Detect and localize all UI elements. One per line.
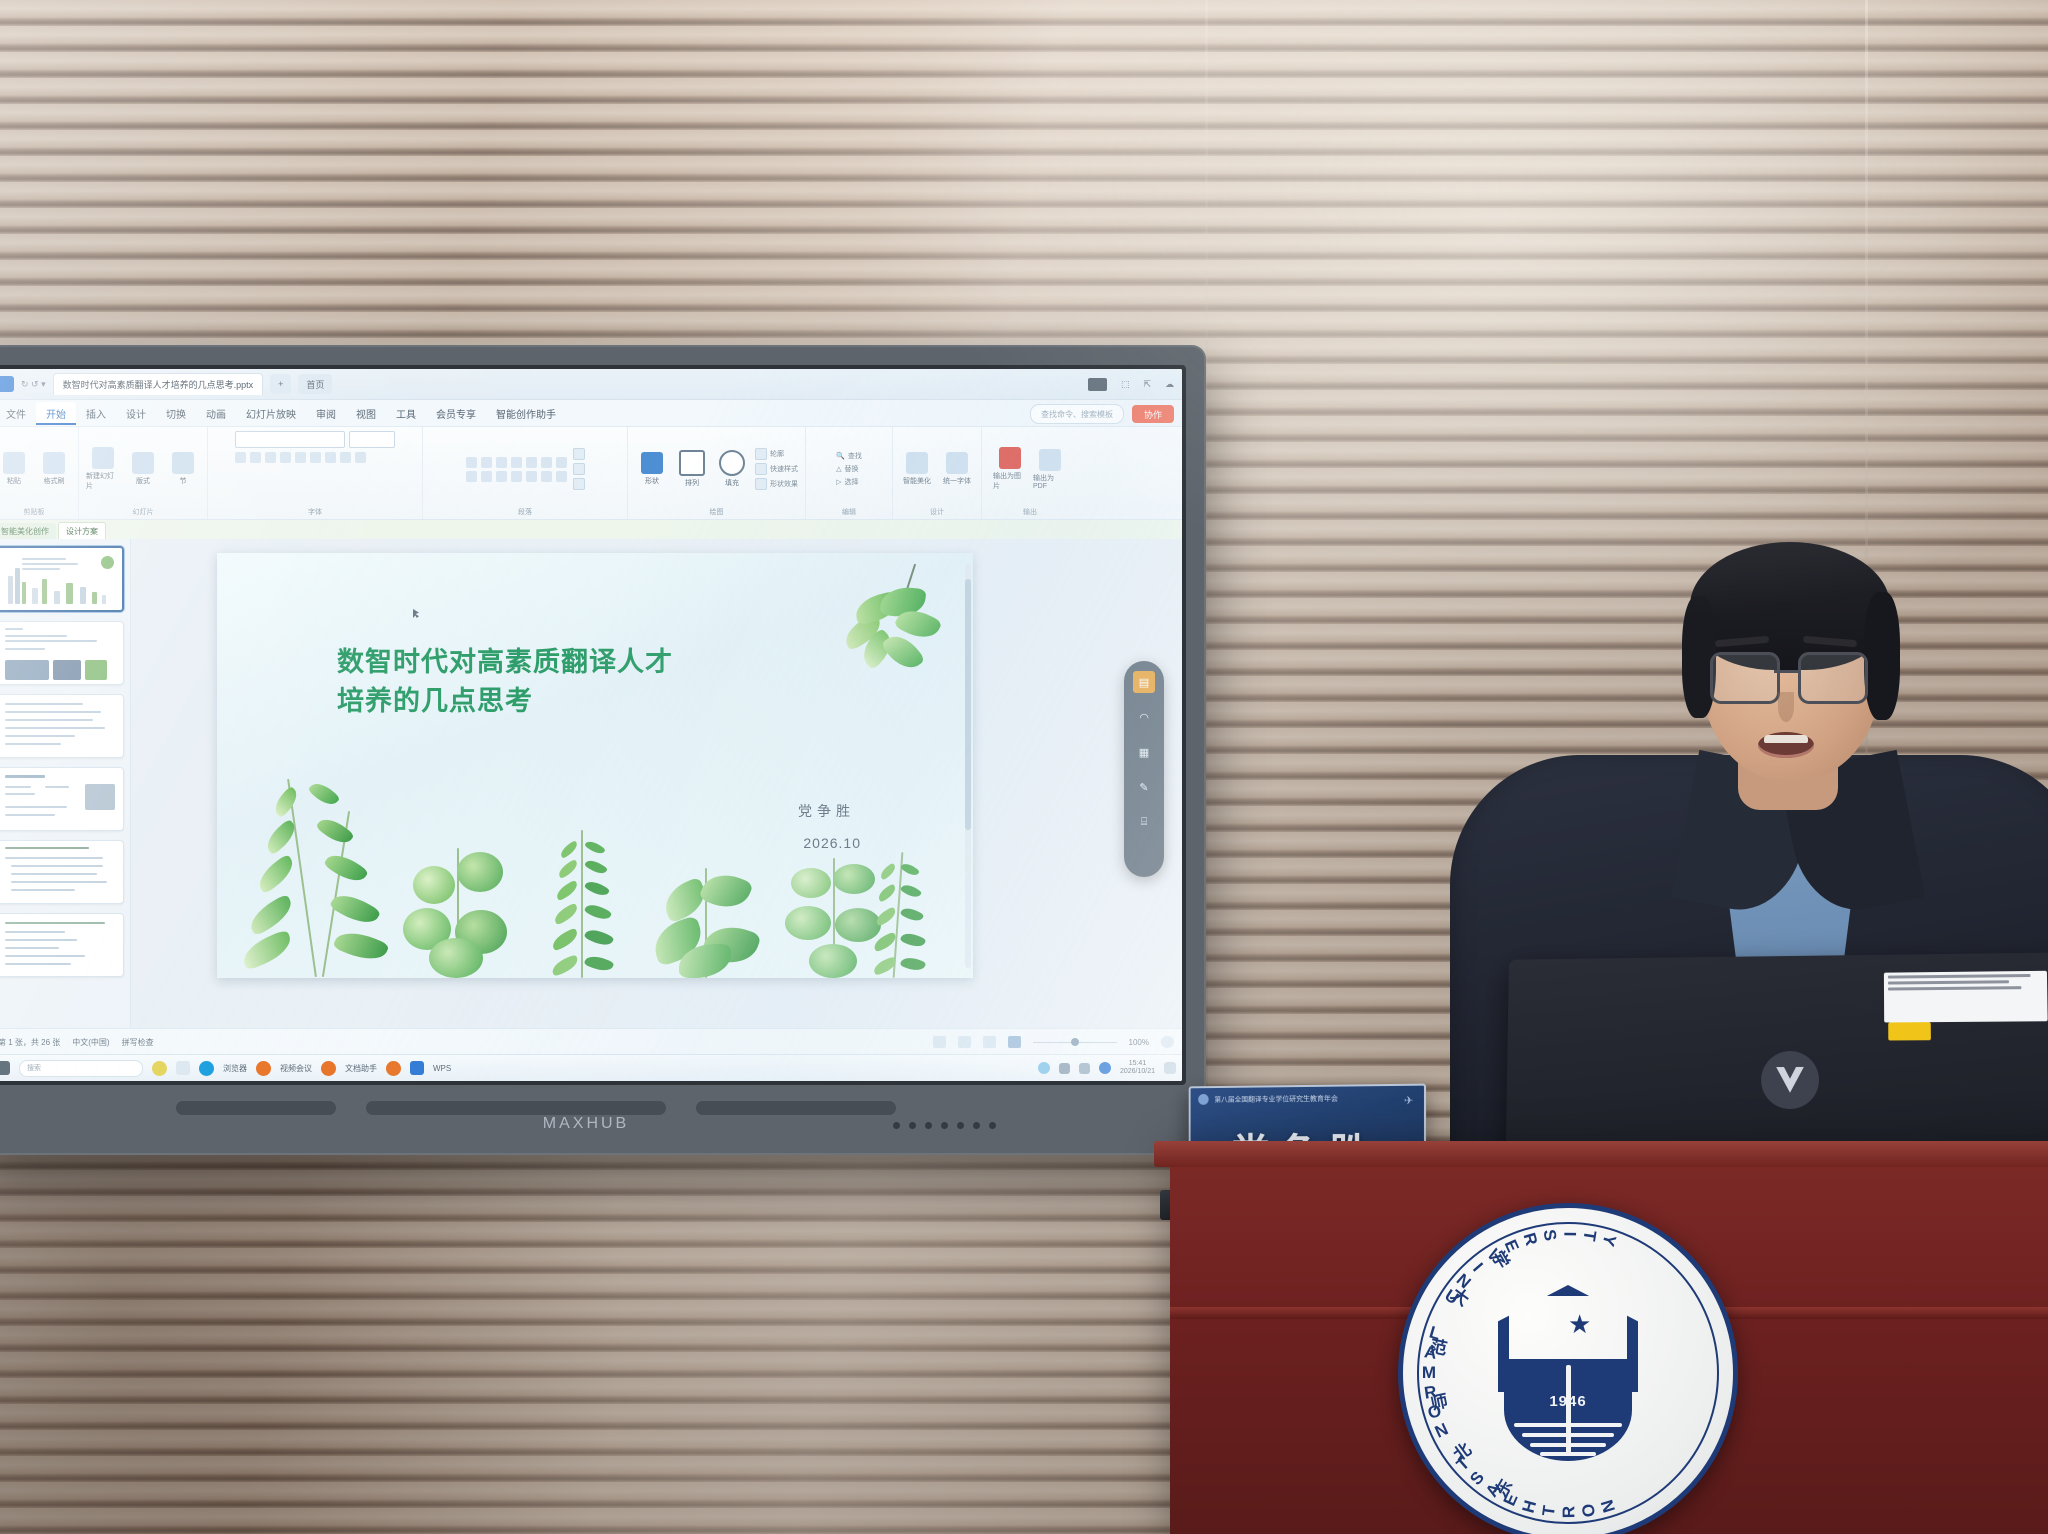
ribbon-tab-view[interactable]: 视图 [346,402,386,425]
display-brand-label: MAXHUB [543,1115,629,1133]
strikethrough-icon[interactable] [280,452,291,463]
slide-thumbnail-5[interactable] [0,840,124,904]
ribbon-tab-design[interactable]: 设计 [116,402,156,425]
outline-icon [755,448,767,460]
convert-smartart-icon[interactable] [541,471,552,482]
speaker-nose [1778,692,1794,722]
emblem-ring-cn-char: 师 [1428,1386,1450,1414]
columns-icon[interactable] [496,471,507,482]
group-caption-output: 输出 [1023,507,1037,517]
line-spacing-icon[interactable] [526,457,537,468]
group-caption-slides: 幻灯片 [133,507,154,517]
group-caption-design: 设计 [930,507,944,517]
emblem-ring-letter: T [1539,1504,1560,1517]
nameplate-header-text: 第八届全国翻译专业学位研究生教育年会 [1214,1093,1338,1104]
shapes-icon [641,452,663,474]
emblem-ring-letter: Y [1597,1232,1619,1249]
emblem-ring-cn-char: 大 [1447,1280,1475,1310]
emblem-ring-letter: O [1426,1401,1444,1424]
group-caption-drawing: 绘图 [710,507,724,517]
ribbon-tab-insert[interactable]: 插入 [76,402,116,425]
ribbon-tab-review[interactable]: 审阅 [306,402,346,425]
clock-date: 2026/10/21 [1120,1068,1155,1076]
collaborate-button[interactable]: 协作 [1132,405,1174,423]
magic-wand-icon [906,452,928,474]
drawing-extra-buttons[interactable]: 轮廓 快速样式 形状效果 [755,448,798,490]
emblem-founding-year: 1946 [1549,1393,1586,1410]
ribbon-tab-animation[interactable]: 动画 [196,402,236,425]
shadow-icon[interactable] [295,452,306,463]
nameplate-header: 第八届全国翻译专业学位研究生教育年会 [1198,1092,1415,1105]
taskbar-item-1-label[interactable]: 视频会议 [280,1063,312,1074]
slide-counter: 第 1 张，共 26 张 [0,1037,60,1048]
wps-logo-icon [0,376,14,392]
arrange-icon[interactable] [573,478,585,490]
zoom-level-label[interactable]: 100% [1129,1038,1149,1047]
display-indicator-dots [893,1122,996,1129]
group-caption-editing: 编辑 [842,507,856,517]
emblem-ring-letter: N [1452,1270,1474,1293]
eyeglasses-bridge [1774,670,1800,673]
replace-icon: △ [836,465,841,473]
slide-title-line1: 数智时代对高素质翻译人才 [337,643,787,682]
titlebar-right-cluster[interactable]: ⬚ ⇱ ☁ [1088,378,1174,391]
format-painter-button[interactable]: 格式刷 [37,452,71,486]
align-text-icon[interactable] [526,471,537,482]
align-center-icon[interactable] [556,457,567,468]
ribbon-tab-slideshow[interactable]: 幻灯片放映 [236,402,306,425]
char-spacing-icon[interactable] [310,452,321,463]
sorter-view-icon[interactable] [958,1036,971,1048]
paste-icon [3,452,25,474]
emblem-ring-letter: I [1468,1259,1486,1276]
arrange-icon [679,450,705,476]
volume-icon[interactable] [1059,1063,1070,1074]
subtab-smart-beautify[interactable]: 智能美化创作 [0,523,56,540]
ribbon-tab-member[interactable]: 会员专享 [426,402,486,425]
layout-icon[interactable]: ▦ [1133,741,1155,763]
font-family-select[interactable] [235,431,345,448]
slide-thumbnail-2[interactable] [0,621,124,685]
align-right-icon[interactable] [466,471,477,482]
new-tab-button[interactable]: + [270,374,291,394]
wps-presentation-window[interactable]: ↻ ↺ ▾ 数智时代对高素质翻译人才培养的几点思考.pptx + 首页 ⬚ ⇱ … [0,369,1182,1081]
ribbon-group-slides[interactable]: 新建幻灯片 版式 节 幻灯片 [79,427,208,519]
ribbon-panel[interactable]: 粘贴 格式刷 剪贴板 新建 [0,427,1182,520]
ai-assistant-icon[interactable]: ◠ [1133,706,1155,728]
group-caption-font: 字体 [308,507,322,517]
university-emblem: NORTHEASTNORMALUNIVERSITY东北师范大学 ★ 1946 [1398,1203,1738,1534]
ribbon-tab-ai-assistant[interactable]: 智能创作助手 [486,402,566,425]
decorative-sprig-right [869,848,929,978]
brand-logo-icon [1761,1051,1819,1109]
eyeglasses-left-lens [1710,652,1780,704]
emblem-ring-letter: L [1427,1323,1443,1345]
slide-vertical-scrollbar[interactable] [965,563,971,968]
os-taskbar[interactable]: 搜索 浏览器 视频会议 文档助手 WPS [0,1054,1182,1081]
taskbar-search-input[interactable]: 搜索 [19,1060,143,1077]
interactive-flat-panel-display[interactable]: ↻ ↺ ▾ 数智时代对高素质翻译人才培养的几点思考.pptx + 首页 ⬚ ⇱ … [0,345,1206,1155]
zoom-slider[interactable] [1033,1042,1117,1043]
emblem-ring-letter: A [1482,1480,1505,1501]
weather-icon[interactable] [152,1061,167,1076]
app-icon-3[interactable] [386,1061,401,1076]
ribbon-tab-file[interactable]: 文件 [0,402,36,425]
start-icon[interactable] [0,1061,10,1075]
podium-top-edge [1154,1141,2048,1167]
layout-button[interactable]: 版式 [126,452,160,486]
find-button[interactable]: 🔍查找 [836,451,862,461]
emblem-ring-letter: I [1559,1232,1579,1237]
spellcheck-indicator[interactable]: 拼写检查 [122,1037,154,1048]
select-button[interactable]: ▷选择 [836,477,862,487]
export-image-button[interactable]: 输出为图片 [993,447,1027,491]
emblem-ring-letter: T [1579,1229,1600,1242]
shapes-button[interactable]: 形状 [635,452,669,486]
emblem-ring-letter: V [1482,1245,1505,1265]
emblem-ring-cn-char: 北 [1447,1435,1475,1465]
emblem-ring-letter: S [1466,1468,1489,1490]
ribbon-group-design[interactable]: 智能美化 统一字体 设计 [893,427,982,519]
screenshot-root: ↻ ↺ ▾ 数智时代对高素质翻译人才培养的几点思考.pptx + 首页 ⬚ ⇱ … [0,0,2048,1534]
slide-thumbnail-6[interactable] [0,913,124,977]
export-image-icon [999,447,1021,469]
unify-font-button[interactable]: 统一字体 [940,452,974,486]
paragraph-settings-icon[interactable] [556,471,567,482]
group-caption-clipboard: 剪贴板 [24,507,45,517]
justify-icon[interactable] [481,471,492,482]
select-object-icon[interactable] [573,463,585,475]
font-color-icon[interactable] [340,452,351,463]
emblem-ring-letter: R [1423,1382,1438,1404]
ribbon-group-font[interactable]: 字体 [208,427,423,519]
clock-time: 15:41 [1120,1060,1155,1068]
fit-to-window-icon[interactable] [1161,1036,1174,1048]
emblem-ring-letter: E [1500,1237,1523,1256]
text-box-icon[interactable] [573,448,585,460]
note-highlight-icon[interactable]: ▤ [1133,671,1155,693]
annotate-icon[interactable]: ✎ [1133,776,1155,798]
wps-title-bar: ↻ ↺ ▾ 数智时代对高素质翻译人才培养的几点思考.pptx + 首页 ⬚ ⇱ … [0,369,1182,400]
replace-button[interactable]: △替换 [836,464,862,474]
battery-icon[interactable] [1079,1063,1090,1074]
section-button[interactable]: 节 [166,452,200,486]
taskbar-item-0-label[interactable]: 浏览器 [223,1063,247,1074]
emblem-ring-letter: T [1453,1454,1474,1476]
ribbon-tab-home[interactable]: 开始 [36,402,76,425]
slide-thumbnail-4[interactable] [0,767,124,831]
speaker-hair [1690,542,1890,670]
emblem-shield [1498,1285,1638,1392]
emblem-ring-letter: R [1559,1506,1579,1518]
group-caption-paragraph: 段落 [518,507,532,517]
slide-thumbnail-3[interactable] [0,694,124,758]
slideshow-icon[interactable] [1008,1036,1021,1048]
eyeglasses-right-lens [1798,652,1868,704]
decorative-leaf-top-right [835,577,945,687]
fill-icon [719,450,745,476]
slide-thumbnail-panel[interactable] [0,539,131,1029]
emblem-ring-letter: M [1422,1363,1436,1383]
emblem-ring-letter: N [1597,1497,1620,1515]
decorative-round-leaf-plant [395,828,535,978]
document-tab[interactable]: 数智时代对高素质翻译人才培养的几点思考.pptx [53,373,264,395]
highlight-color-icon[interactable] [355,452,366,463]
decorative-ginkgo-cluster [647,853,767,978]
home-tab[interactable]: 首页 [298,374,332,394]
emblem-ring-letter: U [1441,1286,1462,1309]
emblem-ring-cn-char: 学 [1487,1245,1517,1272]
emblem-ring-letter: R [1519,1231,1542,1248]
emblem-ring-letter: H [1519,1498,1542,1515]
display-chin: MAXHUB [0,1085,1206,1155]
underline-icon[interactable] [265,452,276,463]
new-slide-icon [92,447,114,469]
wps-taskbar-icon[interactable] [410,1061,424,1075]
emblem-ring-letter: O [1578,1502,1600,1518]
ribbon-group-paragraph[interactable]: 段落 [423,427,628,519]
network-icon[interactable] [1038,1062,1050,1074]
bullet-list-icon[interactable] [466,457,477,468]
increase-indent-icon[interactable] [511,457,522,468]
input-method-icon[interactable] [1099,1062,1111,1074]
reading-view-icon[interactable] [983,1036,996,1048]
wps-status-bar[interactable]: 第 1 张，共 26 张 中文(中国) 拼写检查 100% [0,1028,1182,1055]
mouse-cursor [413,609,419,618]
current-slide[interactable]: 数智时代对高素质翻译人才 培养的几点思考 党争胜 2026.10 [217,553,973,978]
ribbon-right-actions[interactable]: 查找命令、搜索模板 协作 [1030,404,1174,424]
numbered-list-icon[interactable] [481,457,492,468]
taskbar-item-2-label[interactable]: 文档助手 [345,1063,377,1074]
export-pdf-icon [1039,449,1061,471]
yellow-label-sticker [1888,1022,1931,1040]
slide-title-line2: 培养的几点思考 [337,682,787,721]
font-format-buttons[interactable] [235,452,366,463]
asset-tag-sticker [1884,971,2048,1023]
floating-ai-toolbar[interactable]: ▤ ◠ ▦ ✎ ⌸ [1124,661,1164,877]
text-direction-icon[interactable] [511,471,522,482]
export-pdf-button[interactable]: 输出为PDF [1033,449,1067,490]
ribbon-group-editing[interactable]: 🔍查找 △替换 ▷选择 编辑 [806,427,893,519]
emblem-ring-letter: N [1432,1419,1452,1442]
task-view-icon[interactable] [176,1061,190,1075]
paste-button[interactable]: 粘贴 [0,452,31,486]
emblem-core: ★ 1946 [1492,1285,1644,1461]
notifications-icon[interactable] [1164,1062,1176,1074]
command-search-box[interactable]: 查找命令、搜索模板 [1030,404,1124,424]
arrange-button[interactable]: 排列 [675,450,709,488]
decorative-foliage-left [231,748,411,978]
emblem-ring-cn-char: 东 [1487,1474,1517,1501]
wps-main-area: 数智时代对高素质翻译人才 培养的几点思考 党争胜 2026.10 [0,539,1182,1029]
lectern-podium: NORTHEASTNORMALUNIVERSITY东北师范大学 ★ 1946 [1170,1155,2048,1534]
airplane-icon: ✈ [1404,1094,1414,1107]
ribbon-tab-tools[interactable]: 工具 [386,402,426,425]
app-icon-1[interactable] [256,1061,271,1076]
normal-view-icon[interactable] [933,1036,946,1048]
taskbar-clock[interactable]: 15:41 2026/10/21 [1120,1060,1155,1076]
grid-icon[interactable] [1088,378,1107,391]
quick-access-icons[interactable]: ↻ ↺ ▾ [21,379,46,390]
paragraph-buttons[interactable] [466,457,567,482]
ribbon-group-output[interactable]: 输出为图片 输出为PDF 输出 [982,427,1078,519]
cloud-icon[interactable]: ☁ [1165,379,1174,390]
decrease-indent-icon[interactable] [496,457,507,468]
find-icon: 🔍 [836,452,845,460]
browser-icon[interactable] [199,1061,214,1076]
ribbon-tab-transition[interactable]: 切换 [156,402,196,425]
display-screen[interactable]: ↻ ↺ ▾ 数智时代对高素质翻译人才培养的几点思考.pptx + 首页 ⬚ ⇱ … [0,369,1182,1081]
subtab-design-scheme[interactable]: 设计方案 [58,522,106,540]
slide-title-text[interactable]: 数智时代对高素质翻译人才 培养的几点思考 [337,643,787,721]
slide-editing-canvas[interactable]: 数智时代对高素质翻译人才 培养的几点思考 党争胜 2026.10 [131,539,1182,1029]
paragraph-extra-buttons[interactable] [573,448,585,490]
layout-icon [132,452,154,474]
language-indicator[interactable]: 中文(中国) [72,1037,109,1048]
quick-style-icon [755,463,767,475]
emblem-ring-letter: S [1539,1228,1560,1242]
slide-author-text: 党争胜 [798,801,855,821]
taskbar-item-3-label[interactable]: WPS [433,1064,451,1073]
section-icon [172,452,194,474]
format-painter-icon [43,452,65,474]
emblem-book-icon: 1946 [1504,1359,1632,1461]
ribbon-group-drawing[interactable]: 形状 排列 填充 轮廓 [628,427,806,519]
new-slide-button[interactable]: 新建幻灯片 [86,447,120,491]
shape-effect-icon [755,478,767,490]
clear-format-icon[interactable] [325,452,336,463]
collab-icon[interactable]: ⬚ [1121,379,1130,390]
italic-icon[interactable] [250,452,261,463]
emblem-ring-text: NORTHEASTNORMALUNIVERSITY东北师范大学 [1403,1208,1733,1534]
app-icon-2[interactable] [321,1061,336,1076]
share-icon[interactable]: ⇱ [1143,379,1151,390]
fill-button[interactable]: 填充 [715,450,749,488]
bold-icon[interactable] [235,452,246,463]
speaker-mouth [1758,732,1814,758]
unify-font-icon [946,452,968,474]
select-icon: ▷ [836,478,841,486]
emblem-ring-cn-char: 范 [1428,1332,1450,1360]
font-size-select[interactable] [349,431,395,448]
conference-logo-icon [1198,1094,1208,1105]
decorative-fern [547,828,617,978]
emblem-ring-letter: A [1423,1342,1438,1364]
save-icon[interactable]: ⌸ [1133,811,1155,833]
emblem-ring-letter: E [1500,1491,1523,1510]
ribbon-tab-bar[interactable]: 文件 开始 插入 设计 切换 动画 幻灯片放映 审阅 视图 工具 会员专享 智能… [0,400,1182,427]
ribbon-group-clipboard[interactable]: 粘贴 格式刷 剪贴板 [0,427,79,519]
slide-thumbnail-1[interactable] [0,546,124,612]
smart-beautify-button[interactable]: 智能美化 [900,452,934,486]
align-left-icon[interactable] [541,457,552,468]
